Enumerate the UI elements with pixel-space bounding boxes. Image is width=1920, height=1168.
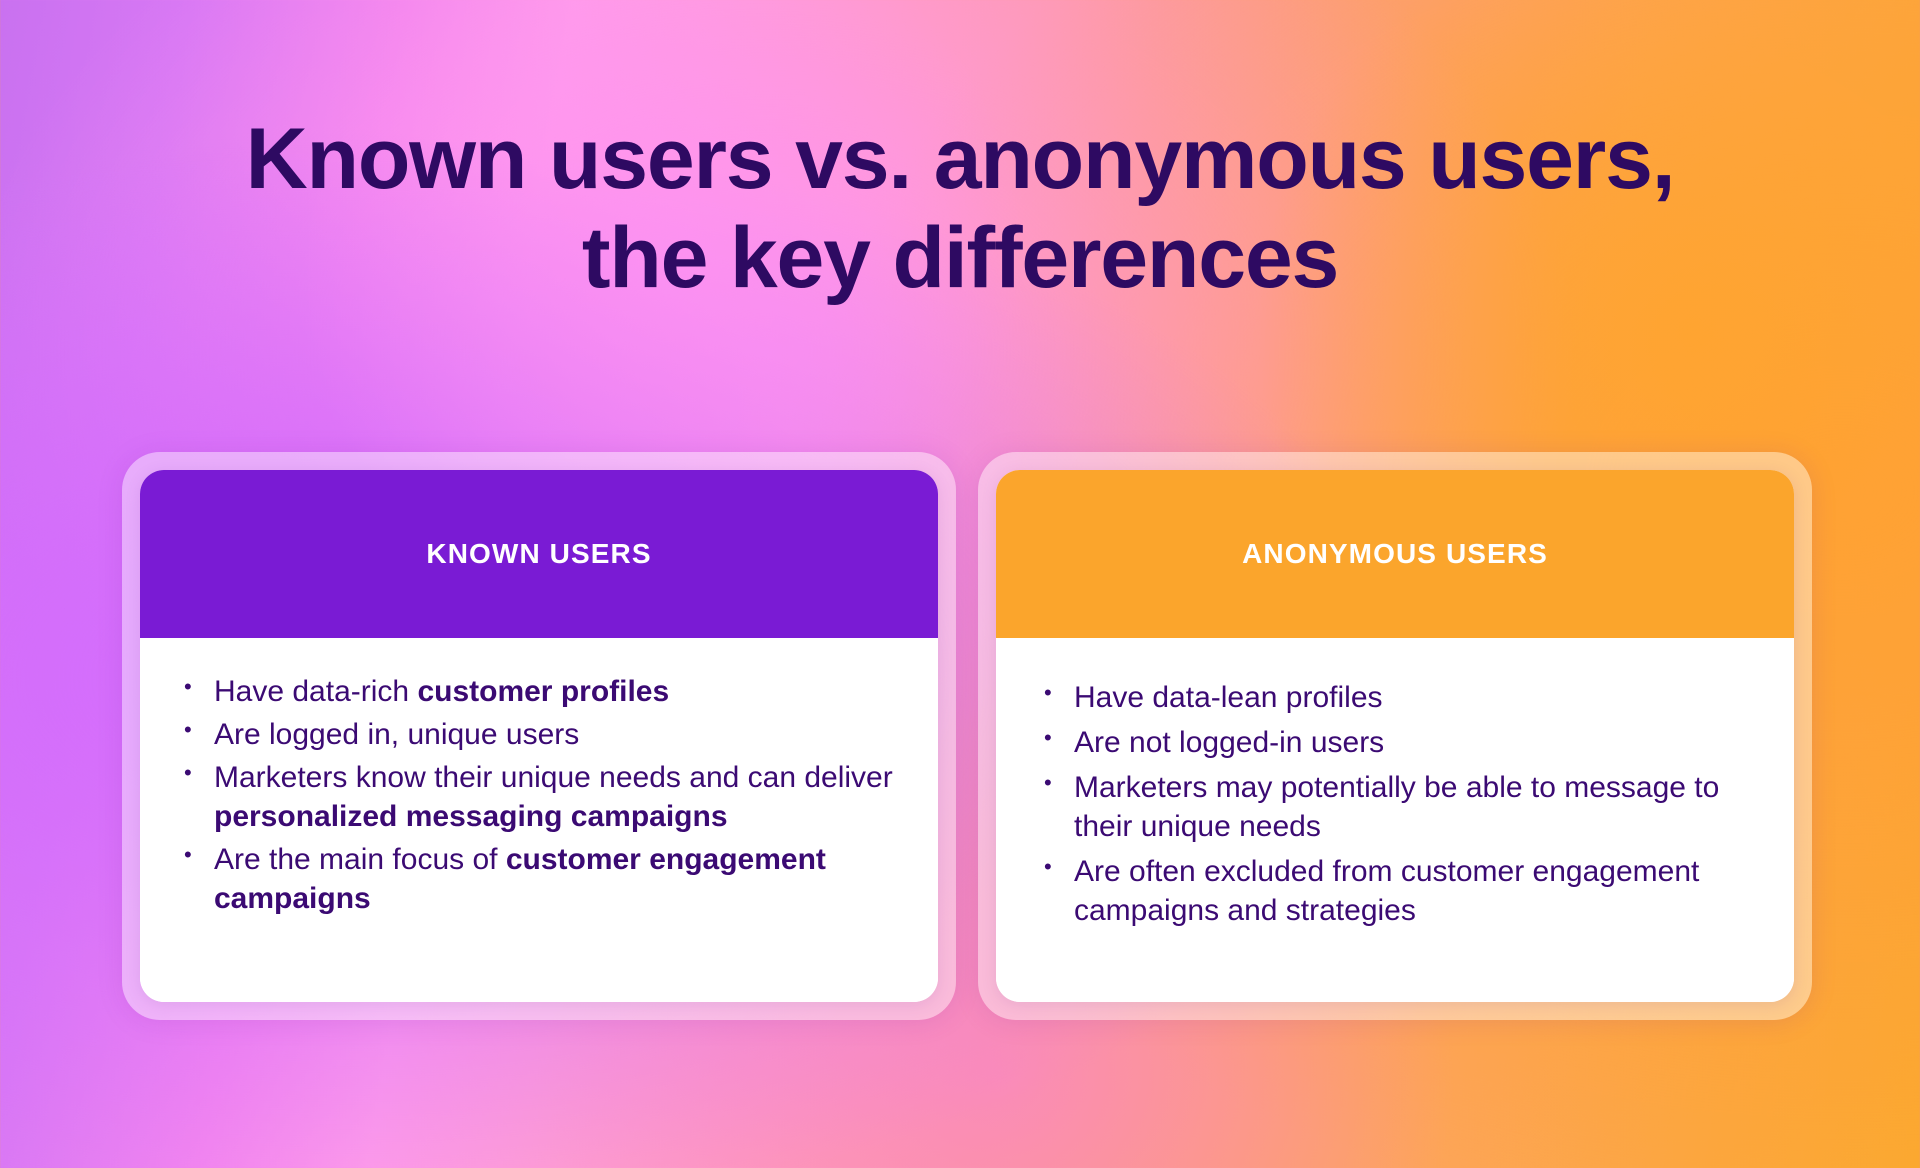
bullet-text: Are often excluded from customer engagem…	[1074, 855, 1699, 927]
card-header-known-users: KNOWN USERS	[140, 470, 938, 638]
card-body-known-users: Have data-rich customer profilesAre logg…	[140, 638, 938, 1002]
bullet-item: Are often excluded from customer engagem…	[1040, 852, 1760, 930]
infographic-canvas: Known users vs. anonymous users, the key…	[0, 0, 1920, 1168]
card-header-anonymous-users: ANONYMOUS USERS	[996, 470, 1794, 638]
bullet-text: Have data-lean profiles	[1074, 681, 1383, 714]
card-anonymous-users: ANONYMOUS USERS Have data-lean profilesA…	[996, 470, 1794, 1002]
card-known-users: KNOWN USERS Have data-rich customer prof…	[140, 470, 938, 1002]
bullet-text: Have data-rich	[214, 675, 417, 708]
bullet-text: Are logged in, unique users	[214, 718, 579, 751]
bullet-item: Have data-lean profiles	[1040, 678, 1760, 717]
bullet-text: Marketers may potentially be able to mes…	[1074, 771, 1719, 843]
bullet-text-emphasis: customer profiles	[417, 675, 669, 708]
bullet-item: Have data-rich customer profiles	[180, 672, 902, 711]
card-body-anonymous-users: Have data-lean profilesAre not logged-in…	[996, 638, 1794, 1002]
page-title: Known users vs. anonymous users, the key…	[195, 110, 1725, 308]
bullet-text: Are the main focus of	[214, 843, 506, 876]
bullet-text: Marketers know their unique needs and ca…	[214, 761, 893, 794]
card-frame-anonymous-users: ANONYMOUS USERS Have data-lean profilesA…	[978, 452, 1812, 1020]
bullet-item: Are logged in, unique users	[180, 715, 902, 754]
bullet-item: Marketers may potentially be able to mes…	[1040, 768, 1760, 846]
bullet-text-emphasis: personalized messaging campaigns	[214, 800, 728, 833]
comparison-cards-row: KNOWN USERS Have data-rich customer prof…	[122, 452, 1812, 1020]
bullet-item: Are the main focus of customer engagemen…	[180, 840, 902, 918]
bullet-item: Marketers know their unique needs and ca…	[180, 758, 902, 836]
card-frame-known-users: KNOWN USERS Have data-rich customer prof…	[122, 452, 956, 1020]
bullet-list-known-users: Have data-rich customer profilesAre logg…	[180, 672, 902, 918]
bullet-list-anonymous-users: Have data-lean profilesAre not logged-in…	[1040, 678, 1760, 930]
bullet-text: Are not logged-in users	[1074, 726, 1384, 759]
bullet-item: Are not logged-in users	[1040, 723, 1760, 762]
